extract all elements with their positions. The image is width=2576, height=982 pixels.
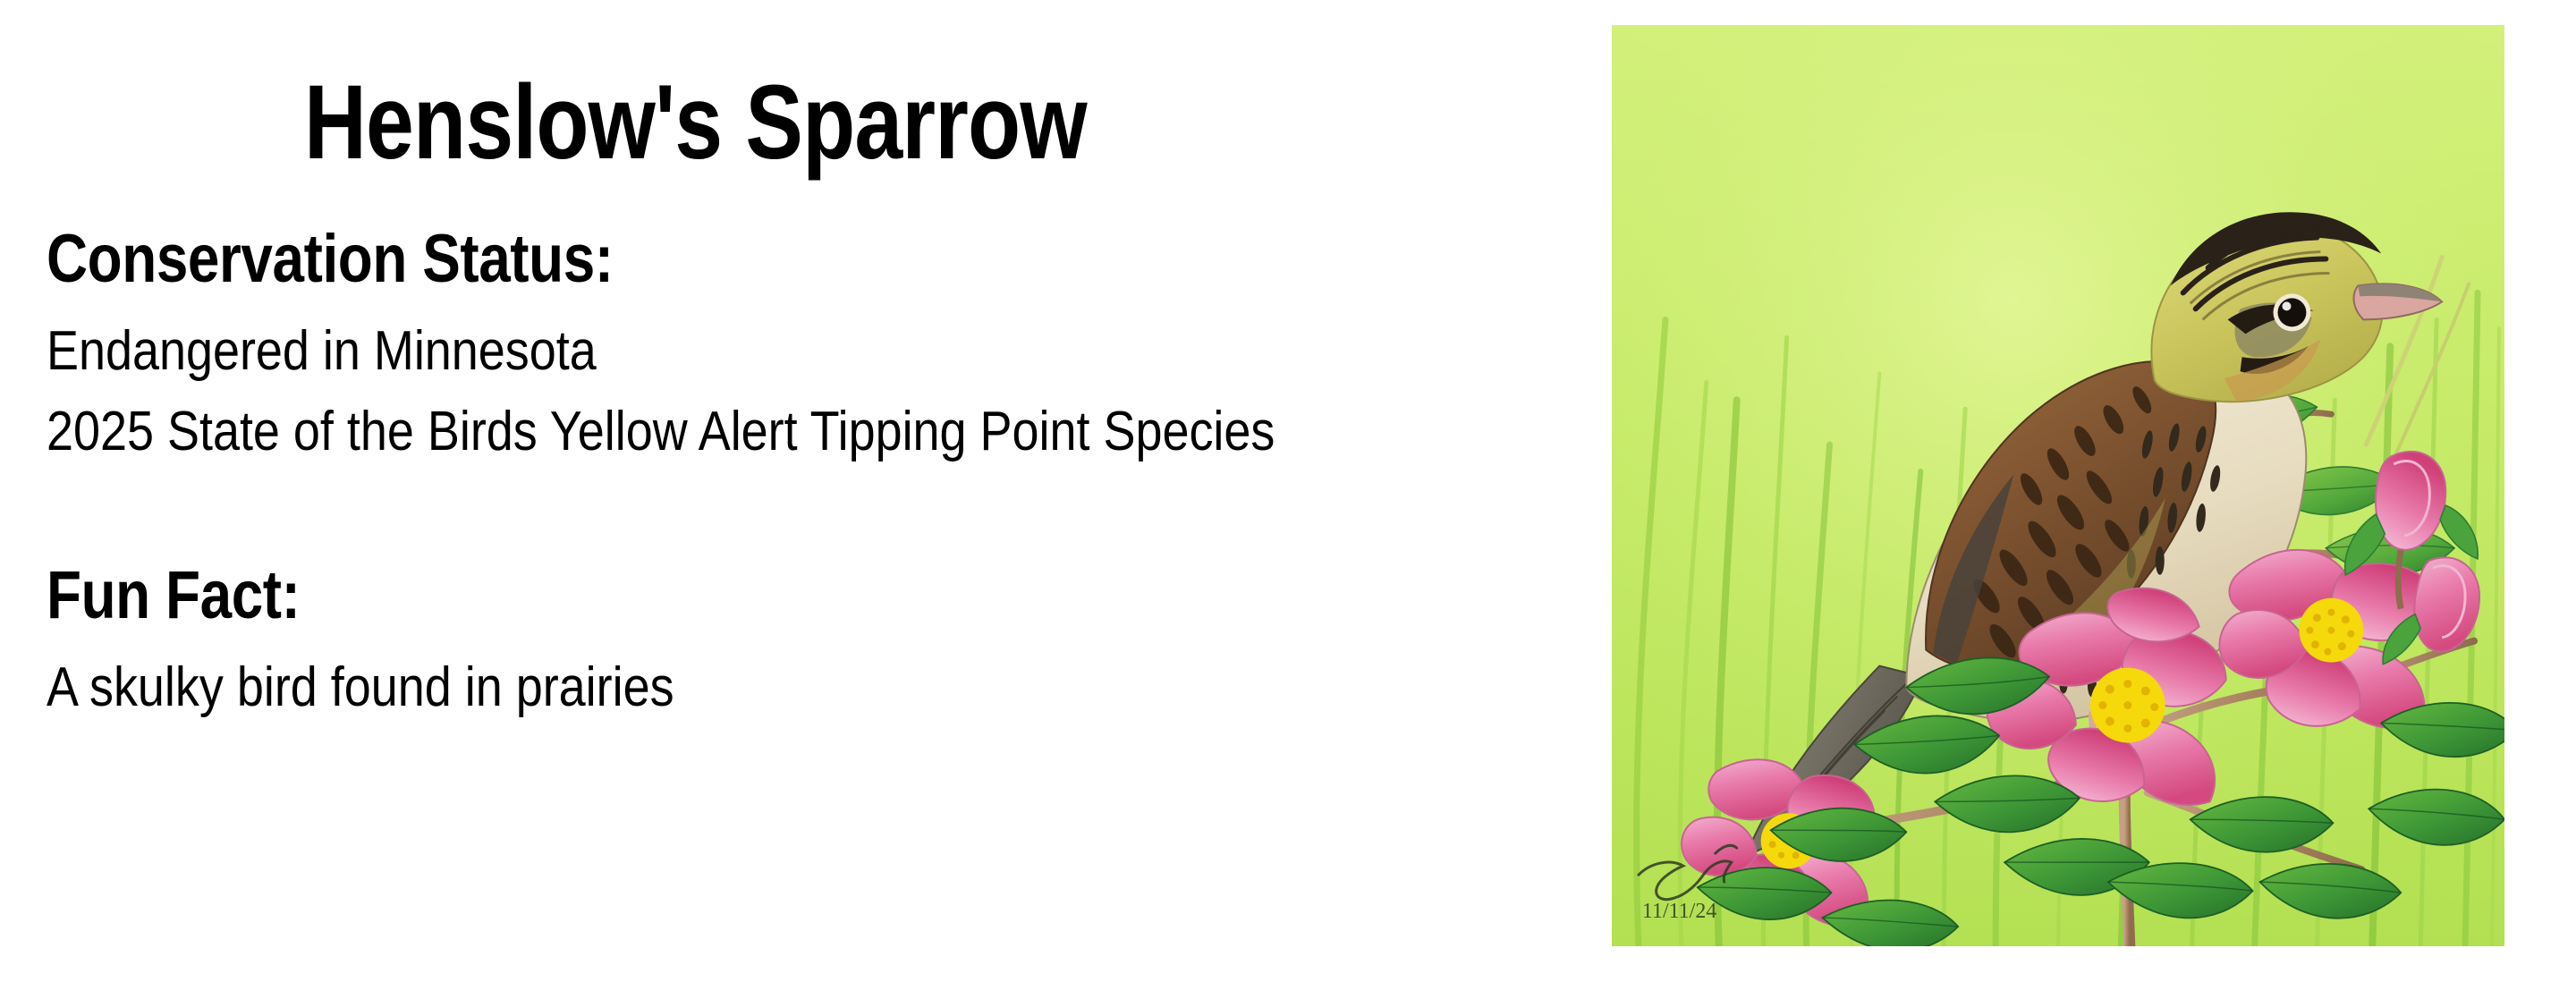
text-column: Henslow's Sparrow Conservation Status: E…: [47, 0, 1603, 982]
bird-eye: [2278, 298, 2307, 326]
conservation-status-heading: Conservation Status:: [47, 225, 614, 293]
signature-date: 11/11/24: [1642, 900, 1716, 923]
bird-eye-highlight: [2282, 301, 2291, 310]
conservation-status-line-1: Endangered in Minnesota: [47, 324, 597, 379]
fun-fact-line-1: A skulky bird found in prairies: [47, 660, 674, 715]
page-title: Henslow's Sparrow: [304, 70, 1087, 175]
species-fact-slide: Henslow's Sparrow Conservation Status: E…: [0, 0, 2576, 982]
conservation-status-line-2: 2025 State of the Birds Yellow Alert Tip…: [47, 404, 1275, 460]
artwork-svg: 11/11/24: [1612, 25, 2504, 946]
fun-fact-heading: Fun Fact:: [47, 562, 300, 630]
henslows-sparrow-illustration: 11/11/24: [1612, 25, 2504, 946]
